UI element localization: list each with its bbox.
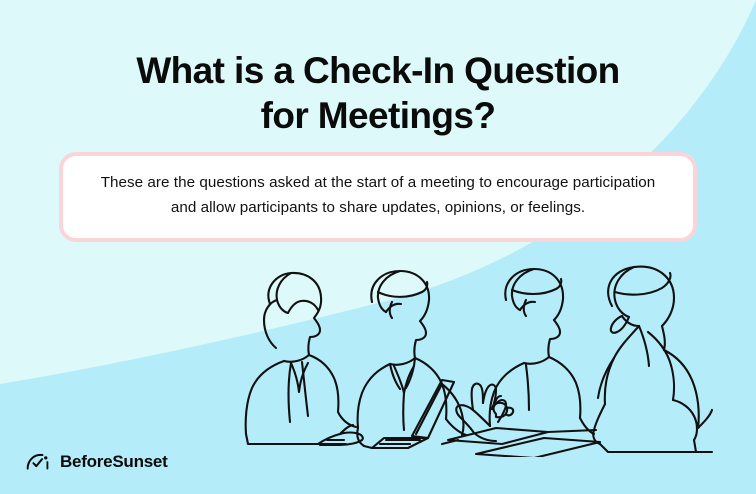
poster-canvas: What is a Check-In Question for Meetings…	[0, 0, 756, 494]
brand-logo-text: BeforeSunset	[60, 452, 168, 472]
arc-check-dot-icon	[26, 452, 54, 472]
page-title: What is a Check-In Question for Meetings…	[0, 48, 756, 138]
definition-card: These are the questions asked at the sta…	[59, 152, 697, 242]
brand-logo[interactable]: BeforeSunset	[26, 452, 168, 472]
page-title-line-2: for Meetings?	[0, 93, 756, 138]
meeting-illustration	[196, 262, 716, 457]
page-title-line-1: What is a Check-In Question	[0, 48, 756, 93]
definition-card-text: These are the questions asked at the sta…	[93, 171, 663, 220]
meeting-illustration-linework	[196, 262, 716, 457]
